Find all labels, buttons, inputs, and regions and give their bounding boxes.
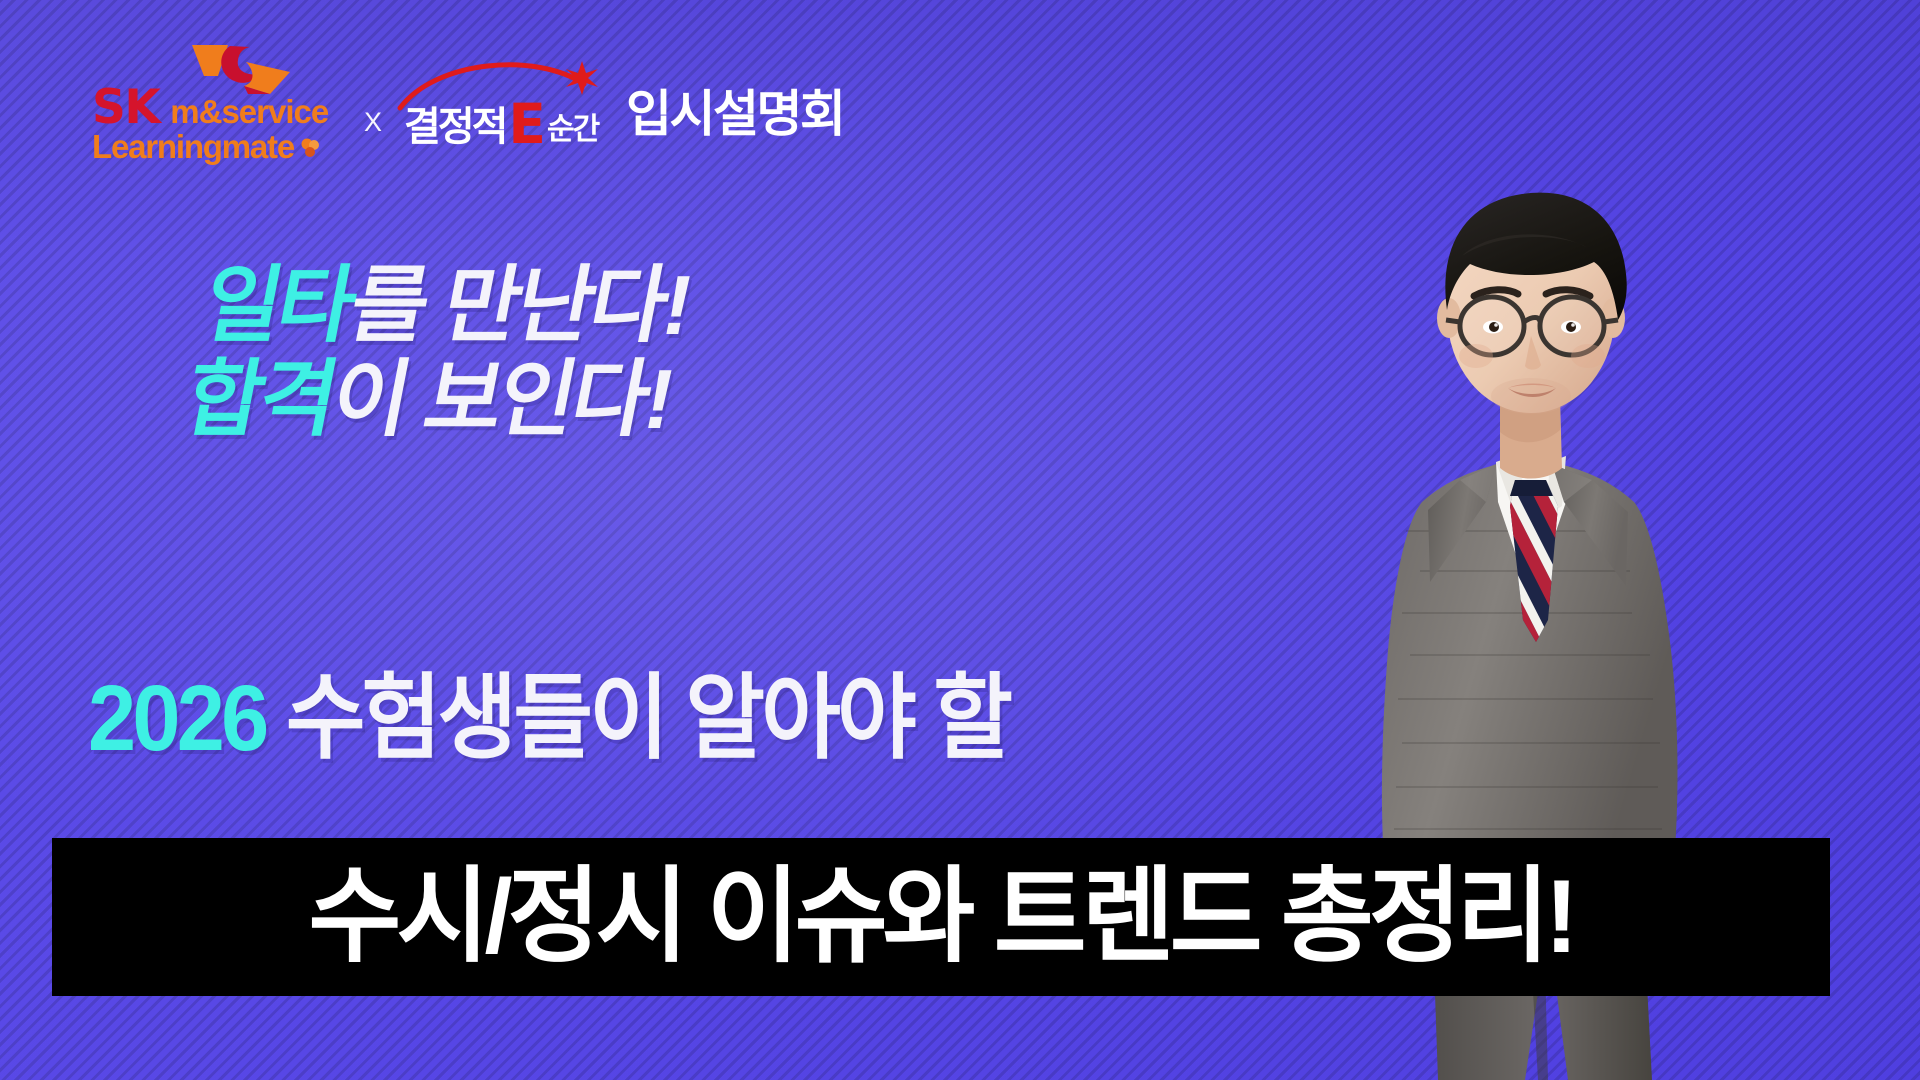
logo-lockup: SK m&service Learningmate X — [92, 42, 844, 154]
black-banner-bar: 수시/정시 이슈와 트렌드 총정리! — [52, 838, 1830, 996]
learningmate-text: Learningmate — [92, 130, 294, 163]
headline-1-accent: 일타 — [196, 258, 361, 352]
headline-2-accent: 합격 — [178, 352, 343, 446]
sk-service-text: m&service — [170, 95, 328, 128]
subhead-year: 2026 — [88, 666, 266, 770]
banner-headline-text: 수시/정시 이슈와 트렌드 총정리! — [309, 865, 1574, 969]
logo-separator-x: X — [364, 107, 382, 138]
sk-learningmate-logo[interactable]: SK m&service Learningmate — [92, 42, 342, 154]
main-headline: 일타를 만난다! 합격이 보인다! — [178, 258, 698, 446]
moment-brand-logo[interactable]: 결정적 E 순간 — [404, 42, 604, 154]
subheadline: 2026 수험생들이 알아야 할 — [88, 672, 1009, 765]
banner-stage: SK m&service Learningmate X — [0, 0, 1920, 1080]
event-name-title: 입시설명회 — [626, 74, 844, 146]
headline-1-rest: 를 만난다! — [343, 258, 698, 352]
headline-line-1: 일타를 만난다! — [196, 258, 697, 352]
moment-highlight-letter: E — [508, 102, 546, 146]
orange-flower-icon — [299, 137, 321, 159]
sk-brand-text: SK — [92, 84, 159, 131]
headline-2-rest: 이 보인다! — [324, 352, 679, 446]
moment-prefix-text: 결정적 — [404, 108, 505, 146]
moment-suffix-text: 순간 — [547, 113, 598, 146]
subhead-text: 수험생들이 알아야 할 — [266, 666, 1010, 770]
headline-line-2: 합격이 보인다! — [178, 352, 679, 446]
